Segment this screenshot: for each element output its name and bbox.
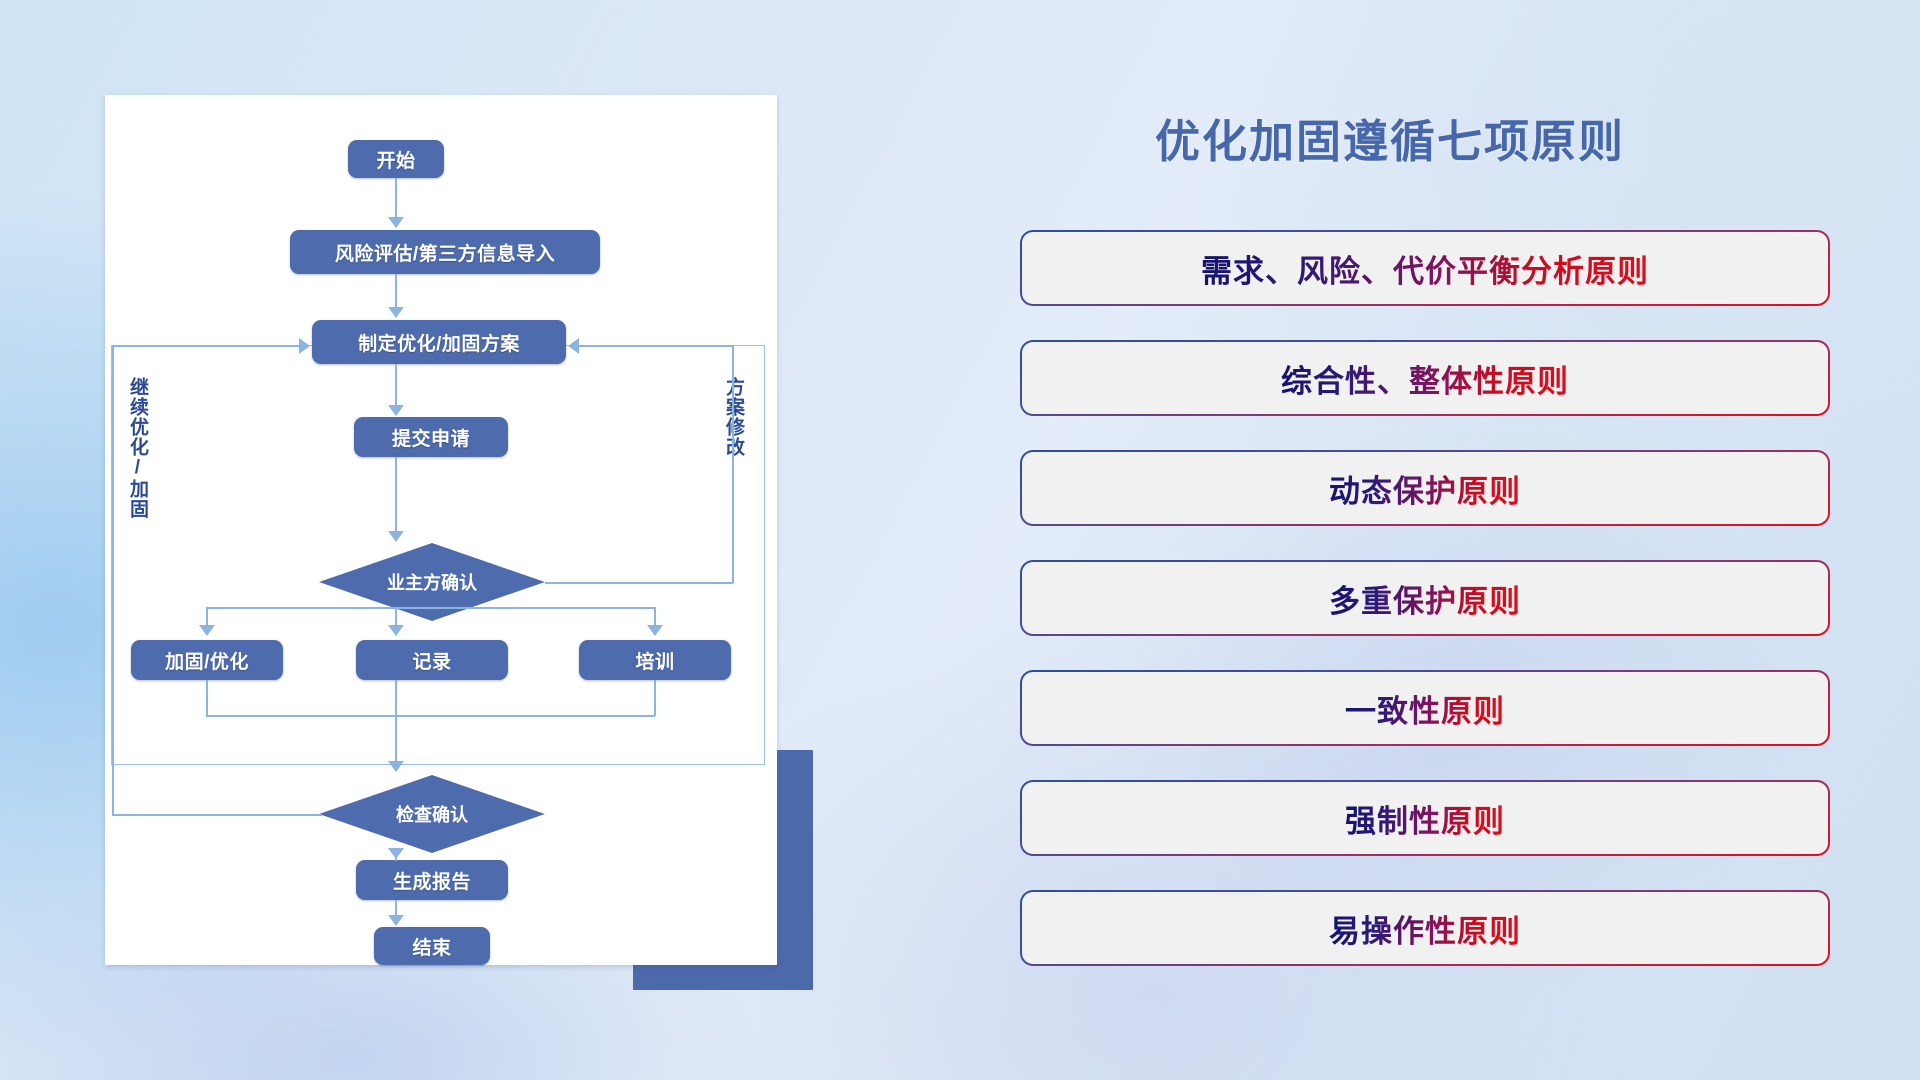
node-submit-application[interactable]: 提交申请 xyxy=(354,417,508,457)
node-reinforce-optimize[interactable]: 加固/优化 xyxy=(131,640,283,680)
connector-training-down xyxy=(654,680,656,716)
connector-start-to-risk xyxy=(395,178,397,219)
arrow-right-loop-to-plan xyxy=(568,338,579,354)
arrow-start-to-risk xyxy=(388,217,404,228)
connector-submit-to-owner xyxy=(395,457,397,531)
node-end[interactable]: 结束 xyxy=(374,927,490,965)
node-check-confirm-decision[interactable]: 检查确认 xyxy=(319,775,545,853)
connector-branch-left-down xyxy=(206,607,208,627)
connector-risk-to-plan xyxy=(395,274,397,309)
principle-card-inner: 强制性原则 xyxy=(1022,782,1828,854)
node-training[interactable]: 培训 xyxy=(579,640,731,680)
flowchart-card: 开始 风险评估/第三方信息导入 制定优化/加固方案 提交申请 业主方确认 加固/… xyxy=(105,95,777,965)
connector-right-loop-vertical xyxy=(732,345,734,583)
connector-branch-right-down xyxy=(654,607,656,627)
principle-card[interactable]: 一致性原则 xyxy=(1020,670,1830,746)
slide-canvas: 开始 风险评估/第三方信息导入 制定优化/加固方案 提交申请 业主方确认 加固/… xyxy=(0,0,1920,1080)
node-make-plan[interactable]: 制定优化/加固方案 xyxy=(312,320,566,364)
connector-branch-bar-top xyxy=(206,607,655,609)
connector-left-loop-vertical xyxy=(112,345,114,815)
node-risk-assessment[interactable]: 风险评估/第三方信息导入 xyxy=(290,230,600,274)
principles-panel: 优化加固遵循七项原则 需求、风险、代价平衡分析原则 综合性、整体性原则 动态保护… xyxy=(1020,80,1850,1020)
arrow-risk-to-plan xyxy=(388,307,404,318)
principle-label: 需求、风险、代价平衡分析原则 xyxy=(1201,246,1649,291)
arrow-plan-to-submit xyxy=(388,405,404,416)
connector-branch-mid-down xyxy=(395,607,397,627)
principle-card-inner: 需求、风险、代价平衡分析原则 xyxy=(1022,232,1828,304)
arrow-check-to-report xyxy=(388,848,404,859)
principle-card[interactable]: 动态保护原则 xyxy=(1020,450,1830,526)
principle-card[interactable]: 综合性、整体性原则 xyxy=(1020,340,1830,416)
connector-plan-to-submit xyxy=(395,364,397,406)
node-start[interactable]: 开始 xyxy=(348,140,444,178)
arrow-left-loop-to-plan xyxy=(299,338,310,354)
principle-label: 一致性原则 xyxy=(1345,686,1505,731)
principle-card[interactable]: 需求、风险、代价平衡分析原则 xyxy=(1020,230,1830,306)
principle-label: 综合性、整体性原则 xyxy=(1281,356,1569,401)
principle-card-inner: 易操作性原则 xyxy=(1022,892,1828,964)
connector-left-loop-bottom xyxy=(112,814,322,816)
principle-card[interactable]: 强制性原则 xyxy=(1020,780,1830,856)
connector-right-loop-top xyxy=(579,345,733,347)
connector-left-loop-top xyxy=(112,345,300,347)
flowchart-panel: 开始 风险评估/第三方信息导入 制定优化/加固方案 提交申请 业主方确认 加固/… xyxy=(105,95,777,990)
principle-card-inner: 多重保护原则 xyxy=(1022,562,1828,634)
principle-label: 多重保护原则 xyxy=(1329,576,1521,621)
connector-merge-bar xyxy=(206,715,655,717)
connector-record-to-check xyxy=(395,680,397,763)
principle-card[interactable]: 易操作性原则 xyxy=(1020,890,1830,966)
node-record[interactable]: 记录 xyxy=(356,640,508,680)
arrow-submit-to-owner xyxy=(388,531,404,542)
arrow-merge-to-check xyxy=(388,761,404,772)
principle-card-inner: 动态保护原则 xyxy=(1022,452,1828,524)
connector-right-loop-bottom xyxy=(545,582,733,584)
principles-list: 需求、风险、代价平衡分析原则 综合性、整体性原则 动态保护原则 多重保护原则 xyxy=(1020,230,1830,1000)
principle-card[interactable]: 多重保护原则 xyxy=(1020,560,1830,636)
arrow-report-to-end xyxy=(388,915,404,926)
principle-label: 强制性原则 xyxy=(1345,796,1505,841)
connector-reinforce-down xyxy=(206,680,208,716)
principle-label: 动态保护原则 xyxy=(1329,466,1521,511)
node-generate-report[interactable]: 生成报告 xyxy=(356,860,508,900)
principle-label: 易操作性原则 xyxy=(1329,906,1521,951)
arrow-to-training xyxy=(647,625,663,636)
principle-card-inner: 一致性原则 xyxy=(1022,672,1828,744)
arrow-to-reinforce xyxy=(199,625,215,636)
principles-title: 优化加固遵循七项原则 xyxy=(1155,105,1625,170)
principle-card-inner: 综合性、整体性原则 xyxy=(1022,342,1828,414)
arrow-to-record xyxy=(388,625,404,636)
edge-label-left-loop: 继续优化/加固 xyxy=(127,377,147,537)
